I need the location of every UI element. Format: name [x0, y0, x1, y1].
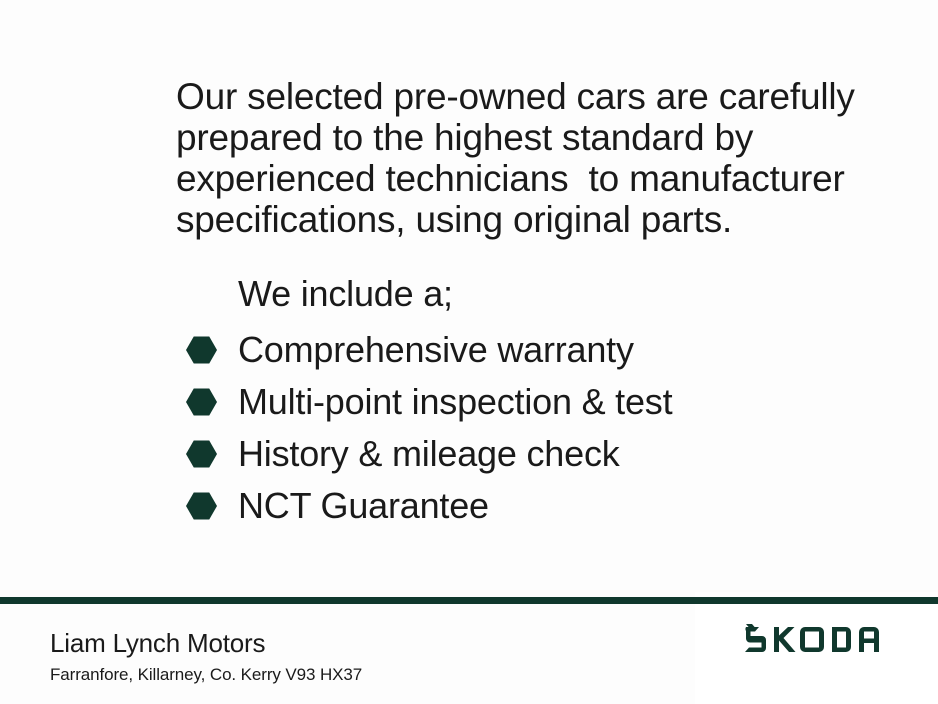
list-item-label: Comprehensive warranty	[238, 330, 634, 370]
hexagon-bullet-icon	[186, 440, 217, 468]
include-lead-in: We include a;	[238, 272, 806, 316]
hexagon-bullet-icon	[186, 336, 217, 364]
footer-divider	[0, 597, 938, 604]
dealer-name: Liam Lynch Motors	[50, 628, 265, 658]
headline-line-3: experienced technicians to manufacturer	[176, 158, 786, 199]
list-item: NCT Guarantee	[186, 480, 806, 532]
headline-line-4: specifications, using original parts.	[176, 199, 786, 240]
list-item-label: History & mileage check	[238, 434, 620, 474]
list-item: Comprehensive warranty	[186, 324, 806, 376]
page-title: Our selected pre-owned cars are carefull…	[176, 76, 786, 240]
include-block: We include a; Comprehensive warranty Mul…	[186, 272, 806, 532]
headline-line-2: prepared to the highest standard by	[176, 117, 786, 158]
feature-list: Comprehensive warranty Multi-point inspe…	[186, 324, 806, 532]
list-item-label: Multi-point inspection & test	[238, 382, 672, 422]
slide-canvas: Our selected pre-owned cars are carefull…	[0, 0, 938, 704]
list-item-label: NCT Guarantee	[238, 486, 489, 526]
skoda-wordmark-logo	[744, 624, 892, 656]
list-item: Multi-point inspection & test	[186, 376, 806, 428]
hexagon-bullet-icon	[186, 388, 217, 416]
list-item: History & mileage check	[186, 428, 806, 480]
dealer-address: Farranfore, Killarney, Co. Kerry V93 HX3…	[50, 664, 362, 685]
headline-line-1: Our selected pre-owned cars are carefull…	[176, 76, 786, 117]
hexagon-bullet-icon	[186, 492, 217, 520]
